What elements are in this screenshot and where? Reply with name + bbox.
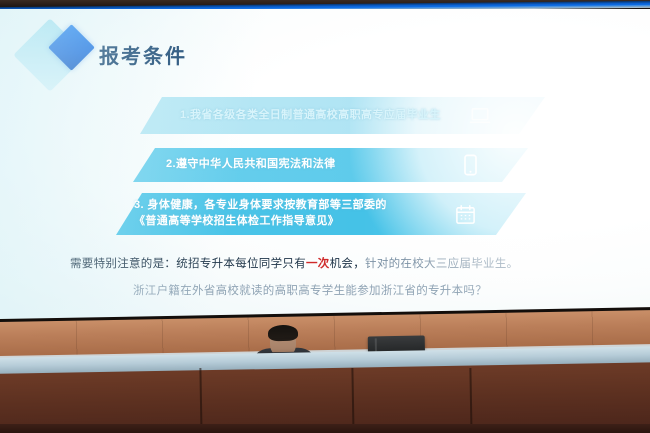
requirement-banner-2: 2.遵守中华人民共和国宪法和法律 — [133, 148, 528, 182]
calendar-icon — [455, 204, 476, 225]
laptop-icon — [469, 107, 491, 125]
floor-strip — [0, 424, 650, 433]
smartphone-icon — [463, 154, 478, 176]
slide-title: 报考条件 — [99, 40, 187, 69]
requirement-banner-3: 3. 身体健康，各专业身体要求按教育部等三部委的 《普通高等学校招生体检工作指导… — [116, 193, 526, 235]
banner-3-text: 3. 身体健康，各专业身体要求按教育部等三部委的 《普通高等学校招生体检工作指导… — [134, 198, 387, 230]
screenshot-root: 报考条件 1.我省各级各类全日制普通高校高职高专应届毕业生 2.遵守中华人民共和… — [0, 0, 650, 433]
note-line-1: 需要特别注意的是：统招专升本每位同学只有一次机会，针对的在校大三应届毕业生。 — [70, 255, 518, 271]
note-line-2: 浙江户籍在外省高校就读的高职高专学生能参加浙江省的专升本吗？ — [133, 282, 487, 298]
podium-front-panel — [0, 362, 650, 433]
banner-2-text: 2.遵守中华人民共和国宪法和法律 — [166, 157, 336, 173]
note-1-highlight: 一次 — [306, 258, 330, 270]
note-1-part-2: 机会， — [330, 258, 365, 270]
requirement-banner-1: 1.我省各级各类全日制普通高校高职高专应届毕业生 — [140, 97, 545, 134]
presenter-glasses — [272, 338, 294, 343]
note-1-part-1: 需要特别注意的是：统招专升本每位同学只有 — [70, 258, 306, 270]
projection-screen: 报考条件 1.我省各级各类全日制普通高校高职高专应届毕业生 2.遵守中华人民共和… — [0, 9, 650, 323]
note-1-part-3: 针对的在校大三应届毕业生。 — [365, 258, 518, 270]
banner-1-text: 1.我省各级各类全日制普通高校高职高专应届毕业生 — [180, 108, 441, 124]
